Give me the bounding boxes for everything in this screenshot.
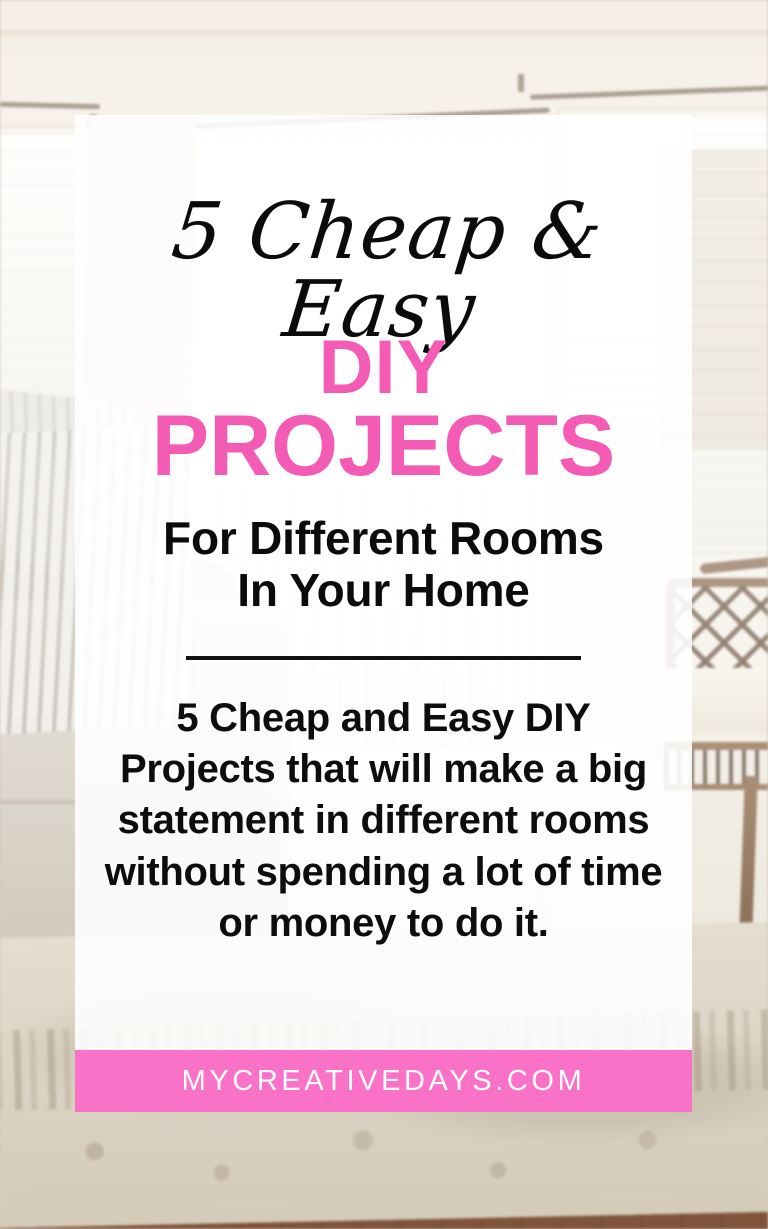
website-url-text: MYCREATIVEDAYS.COM [182,1065,586,1098]
headline-diy: DIY [75,330,692,406]
body-description: 5 Cheap and Easy DIY Projects that will … [97,693,670,949]
subheadline: For Different Rooms In Your Home [85,513,682,616]
pinterest-pin-graphic: 5 Cheap & Easy DIY PROJECTS For Differen… [0,0,768,1229]
website-url-bar[interactable]: MYCREATIVEDAYS.COM [75,1050,692,1112]
horizontal-divider [186,656,581,660]
subheadline-line-1: For Different Rooms [85,513,682,565]
headline-projects: PROJECTS [75,403,692,489]
subheadline-line-2: In Your Home [85,565,682,617]
text-card-overlay: 5 Cheap & Easy DIY PROJECTS For Differen… [75,115,692,1050]
